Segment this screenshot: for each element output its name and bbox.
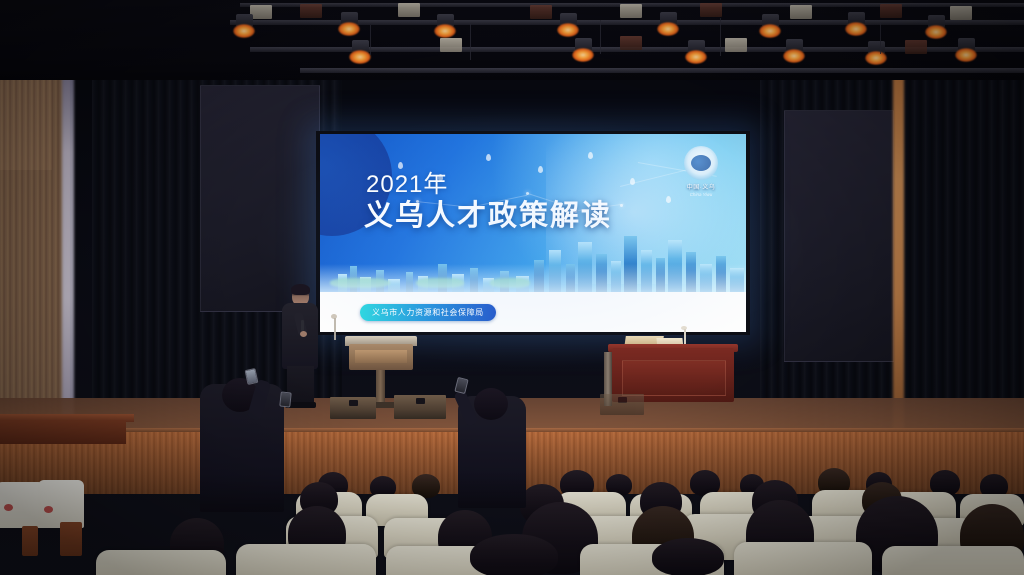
chair-ribbon xyxy=(4,504,13,511)
audience-head xyxy=(652,538,724,575)
presentation-slide[interactable]: 2021年 义乌人才政策解读 中国·义乌 China Yiwu 义乌市人力资源和… xyxy=(320,134,746,332)
stage-lamp-icon xyxy=(845,22,867,36)
network-pin-icon xyxy=(538,166,543,173)
stage-lamp-icon xyxy=(557,23,579,37)
slide-main-title: 义乌人才政策解读 xyxy=(364,192,612,234)
chair-frame xyxy=(22,526,38,556)
yiwu-city-emblem: 中国·义乌 China Yiwu xyxy=(678,146,724,198)
emblem-sublabel: China Yiwu xyxy=(678,192,724,197)
stage-lamp-icon xyxy=(657,22,679,36)
wall-panel-left xyxy=(200,85,320,312)
stage-lamp-icon xyxy=(783,49,805,63)
emblem-label: 中国·义乌 xyxy=(678,182,724,191)
audience-seat xyxy=(96,550,226,575)
conference-table-panel xyxy=(622,360,726,396)
smartphone-camera-icon xyxy=(279,391,292,407)
stage-lamp-icon xyxy=(349,50,371,64)
network-pin-icon xyxy=(588,152,593,159)
stage-lamp-icon xyxy=(865,51,887,65)
stage-lamp-icon xyxy=(955,48,977,62)
conference-hall-photo: 2021年 义乌人才政策解读 中国·义乌 China Yiwu 义乌市人力资源和… xyxy=(0,0,1024,575)
covered-chair xyxy=(38,480,84,528)
stage-lamp-icon xyxy=(685,50,707,64)
organization-badge: 义乌市人力资源和社会保障局 xyxy=(360,304,496,321)
table-microphone-stem xyxy=(684,329,686,345)
audience-seat xyxy=(734,542,872,575)
presenter-legs xyxy=(287,366,314,406)
lectern-front-panel xyxy=(355,350,407,363)
stage-lamp-icon xyxy=(434,24,456,38)
stage-lamp-icon xyxy=(233,24,255,38)
wall-panel-right xyxy=(784,110,894,362)
stage-monitor-speaker xyxy=(394,395,446,419)
stage-lamp-icon xyxy=(759,24,781,38)
chair-ribbon xyxy=(44,506,53,513)
network-pin-icon xyxy=(486,154,491,161)
stage-lamp-icon xyxy=(925,25,947,39)
emblem-ring-icon xyxy=(684,146,718,180)
stage-lamp-icon xyxy=(572,48,594,62)
stage-monitor-speaker xyxy=(600,394,644,415)
presenter-hand xyxy=(300,331,307,337)
stage-monitor-speaker xyxy=(330,397,376,419)
handheld-microphone-icon xyxy=(301,320,304,331)
lectern-column xyxy=(376,370,385,404)
presenter-hair xyxy=(291,284,310,295)
chair-frame xyxy=(60,522,82,556)
audience-head xyxy=(470,534,558,575)
overhead-lighting-truss xyxy=(0,0,1024,80)
network-pin-icon xyxy=(666,196,671,203)
stage-lamp-icon xyxy=(338,22,360,36)
podium-microphone-stem xyxy=(334,318,336,340)
slide-artwork-background: 2021年 义乌人才政策解读 中国·义乌 China Yiwu xyxy=(320,134,746,294)
audience-seat xyxy=(236,544,376,575)
audience-seat xyxy=(882,546,1024,575)
